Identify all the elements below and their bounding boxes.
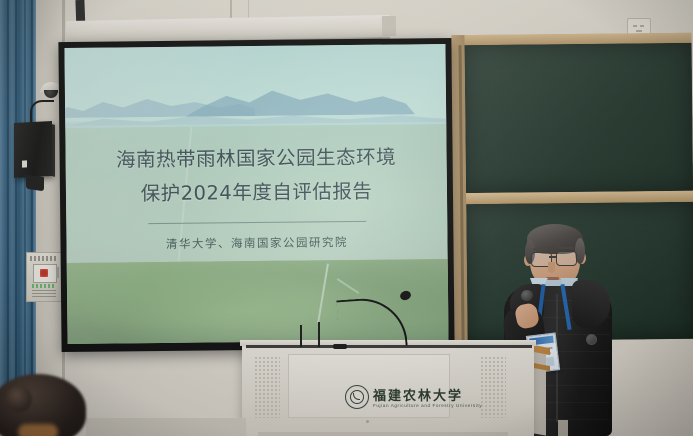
- presentation-room-photo: 海南热带雨林国家公园生态环境 保护2024年度自评估报告 清华大学、海南国家公园…: [0, 0, 693, 436]
- podium-panel-screw: [366, 420, 369, 423]
- projection-screen: 海南热带雨林国家公园生态环境 保护2024年度自评估报告 清华大学、海南国家公园…: [64, 44, 448, 344]
- podium-rod-left: [300, 325, 302, 347]
- podium: 福建农林大学 Fujian Agriculture and Forestry U…: [240, 340, 536, 436]
- glasses-lens-right: [556, 251, 577, 266]
- university-name-cn: 福建农林大学: [373, 385, 493, 404]
- lower-wall-band: [86, 418, 246, 436]
- projection-screen-frame: 海南热带雨林国家公园生态环境 保护2024年度自评估报告 清华大学、海南国家公园…: [58, 38, 454, 352]
- panel-button[interactable]: [56, 267, 59, 278]
- wall-speaker: [14, 121, 52, 178]
- slide-title-line-1: 海南热带雨林国家公园生态环境: [79, 140, 432, 178]
- fire-alarm-icon: [40, 269, 48, 277]
- housing-end-cap: [382, 16, 396, 36]
- presenter-nose: [548, 262, 555, 273]
- audience-hair-detail: [6, 386, 32, 412]
- podium-rod-right: [318, 322, 320, 347]
- podium-speaker-grille-left: [254, 356, 280, 418]
- speaker-led: [22, 160, 27, 167]
- panel-instruction-text: [32, 290, 56, 297]
- podium-leg: [558, 420, 568, 436]
- glasses-bridge: [549, 256, 557, 258]
- podium-base-shadow: [258, 432, 508, 436]
- jacket-brand-logo: [586, 334, 597, 345]
- window-curtain: [0, 0, 36, 392]
- panel-header-text: [30, 256, 58, 261]
- audience-shoulder: [18, 424, 58, 436]
- panel-status-leds: [32, 284, 56, 288]
- fire-alarm-panel[interactable]: [26, 252, 62, 302]
- university-name-en: Fujian Agriculture and Forestry Universi…: [373, 403, 497, 408]
- podium-branding-panel: 福建农林大学 Fujian Agriculture and Forestry U…: [288, 354, 450, 418]
- speaker-mount-bracket: [26, 175, 44, 192]
- slide-title: 海南热带雨林国家公园生态环境 保护2024年度自评估报告: [79, 140, 433, 212]
- slide-title-line-2: 保护2024年度自评估报告: [80, 174, 433, 212]
